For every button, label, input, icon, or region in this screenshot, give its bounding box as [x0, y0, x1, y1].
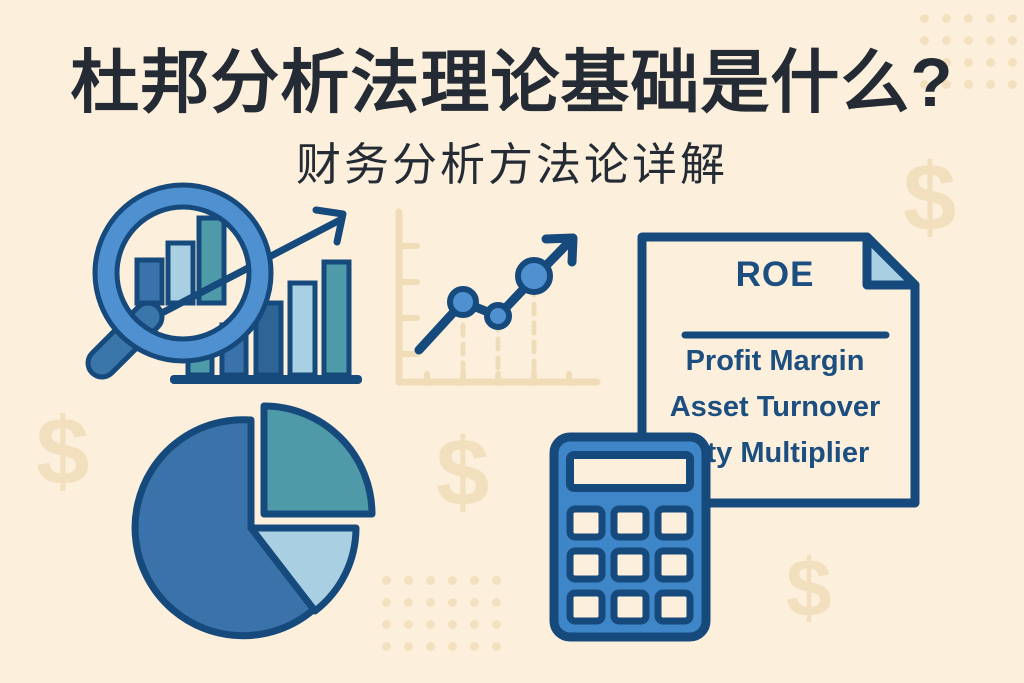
poster-canvas: $ $ $ $ 杜邦分析法理论基础是什么? 财务分析方法论详解 [0, 0, 1024, 683]
page-title: 杜邦分析法理论基础是什么? [0, 26, 1024, 126]
dot-grid-bottom-left [382, 576, 514, 664]
calculator-key [570, 509, 602, 537]
data-point [450, 289, 476, 315]
calculator-key [658, 593, 690, 621]
dollar-sign-watermark: $ [786, 548, 832, 630]
calculator-keys[interactable] [570, 509, 690, 621]
calculator-key [614, 593, 646, 621]
bar [290, 283, 315, 375]
data-point [487, 305, 509, 327]
calculator-key [658, 509, 690, 537]
calculator-display [570, 455, 690, 488]
trend-line-chart [385, 200, 615, 400]
data-point [518, 260, 550, 292]
calculator-key [658, 551, 690, 579]
chart-baseline [170, 375, 362, 384]
trend-line [419, 240, 571, 350]
pie-slice-b [264, 406, 372, 514]
document-title: ROE [620, 255, 930, 295]
calculator-key [570, 593, 602, 621]
document-component-asset-turnover: Asset Turnover [620, 391, 930, 424]
document-component-profit-margin: Profit Margin [620, 345, 930, 378]
calculator-key [614, 509, 646, 537]
bar [324, 262, 349, 375]
calculator-key [614, 551, 646, 579]
dollar-sign-watermark: $ [436, 425, 489, 521]
calculator-key [570, 551, 602, 579]
magnifier-bar-chart-illustration [40, 160, 400, 410]
calculator [540, 425, 720, 650]
composition-pie-chart [125, 385, 395, 650]
dollar-sign-watermark: $ [36, 404, 89, 500]
